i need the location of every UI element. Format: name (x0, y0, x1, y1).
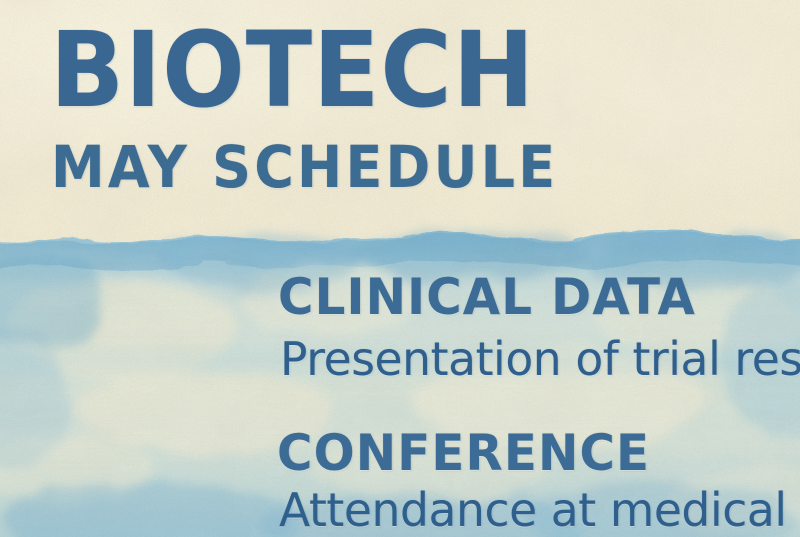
poster-title-secondary: MAY SCHEDULE (51, 138, 558, 196)
poster-text-layer: BIOTECH MAY SCHEDULE CLINICAL DATA Prese… (0, 0, 800, 537)
schedule-entry-description: Presentation of trial results (280, 336, 800, 382)
schedule-entry-description: Attendance at medical meet (279, 487, 800, 533)
schedule-entry-heading: CONFERENCE (277, 428, 650, 478)
poster-canvas: BIOTECH MAY SCHEDULE CLINICAL DATA Prese… (0, 0, 800, 537)
schedule-entry-heading: CLINICAL DATA (278, 272, 696, 322)
poster-title-primary: BIOTECH (50, 18, 535, 122)
